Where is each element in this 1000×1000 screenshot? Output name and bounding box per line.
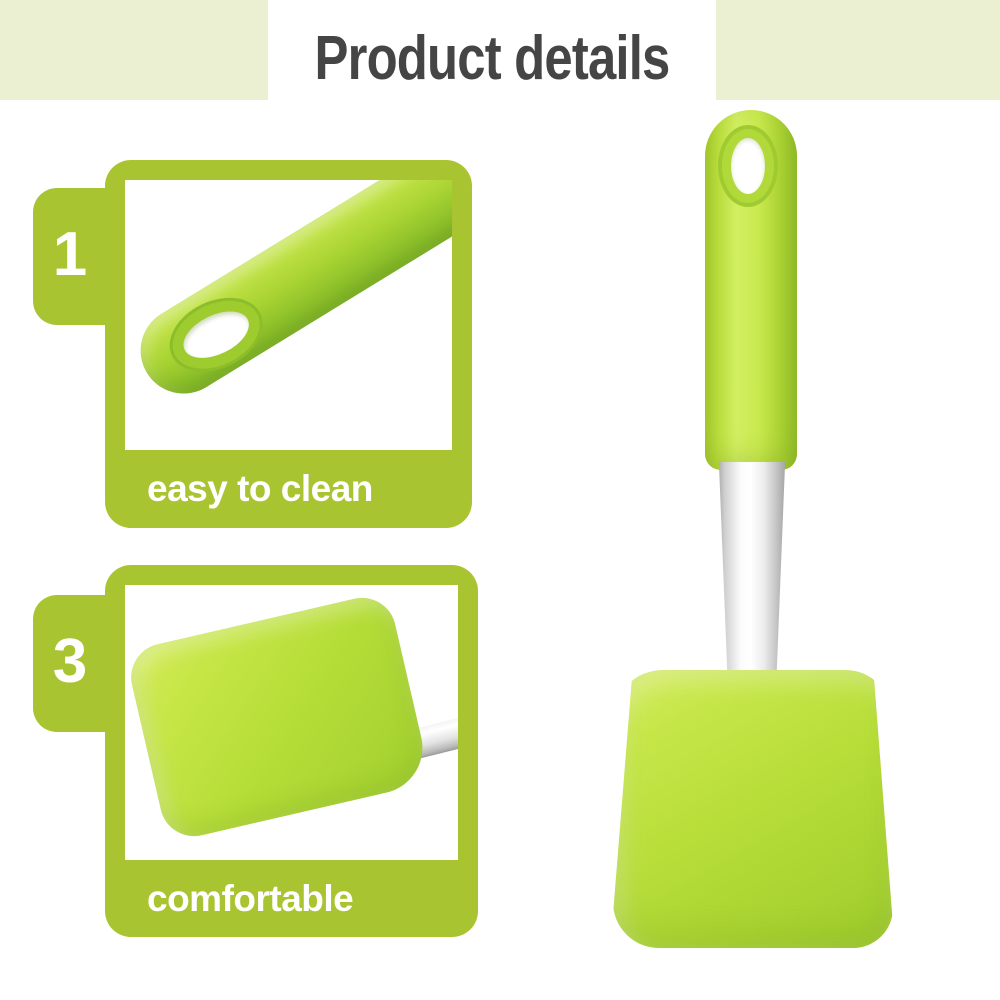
header-band-right [716, 0, 1000, 100]
hero-hanging-hole [731, 138, 765, 194]
feature-card-1: easy to clean [105, 160, 472, 528]
feature-card-2: comfortable [105, 565, 478, 937]
feature-caption-1: easy to clean [105, 450, 472, 528]
blade-body [125, 591, 432, 843]
hero-product-image [595, 110, 915, 940]
handle-tip-illustration [125, 180, 452, 410]
page-title: Product details [308, 17, 675, 100]
feature-number-badge-1: 1 [33, 188, 119, 325]
feature-photo-1 [125, 180, 452, 450]
feature-number-1: 1 [53, 224, 87, 286]
blade-illustration [125, 591, 432, 843]
product-details-page: Product details easy to clean 1 comforta… [0, 0, 1000, 1000]
feature-caption-2: comfortable [105, 860, 478, 937]
handle-body [125, 180, 452, 410]
feature-number-badge-2: 3 [33, 595, 119, 732]
hero-steel-shaft [716, 462, 788, 678]
hero-blade-head [613, 670, 893, 948]
header-band-left [0, 0, 268, 100]
feature-photo-2 [125, 585, 458, 860]
feature-number-2: 3 [53, 631, 87, 693]
